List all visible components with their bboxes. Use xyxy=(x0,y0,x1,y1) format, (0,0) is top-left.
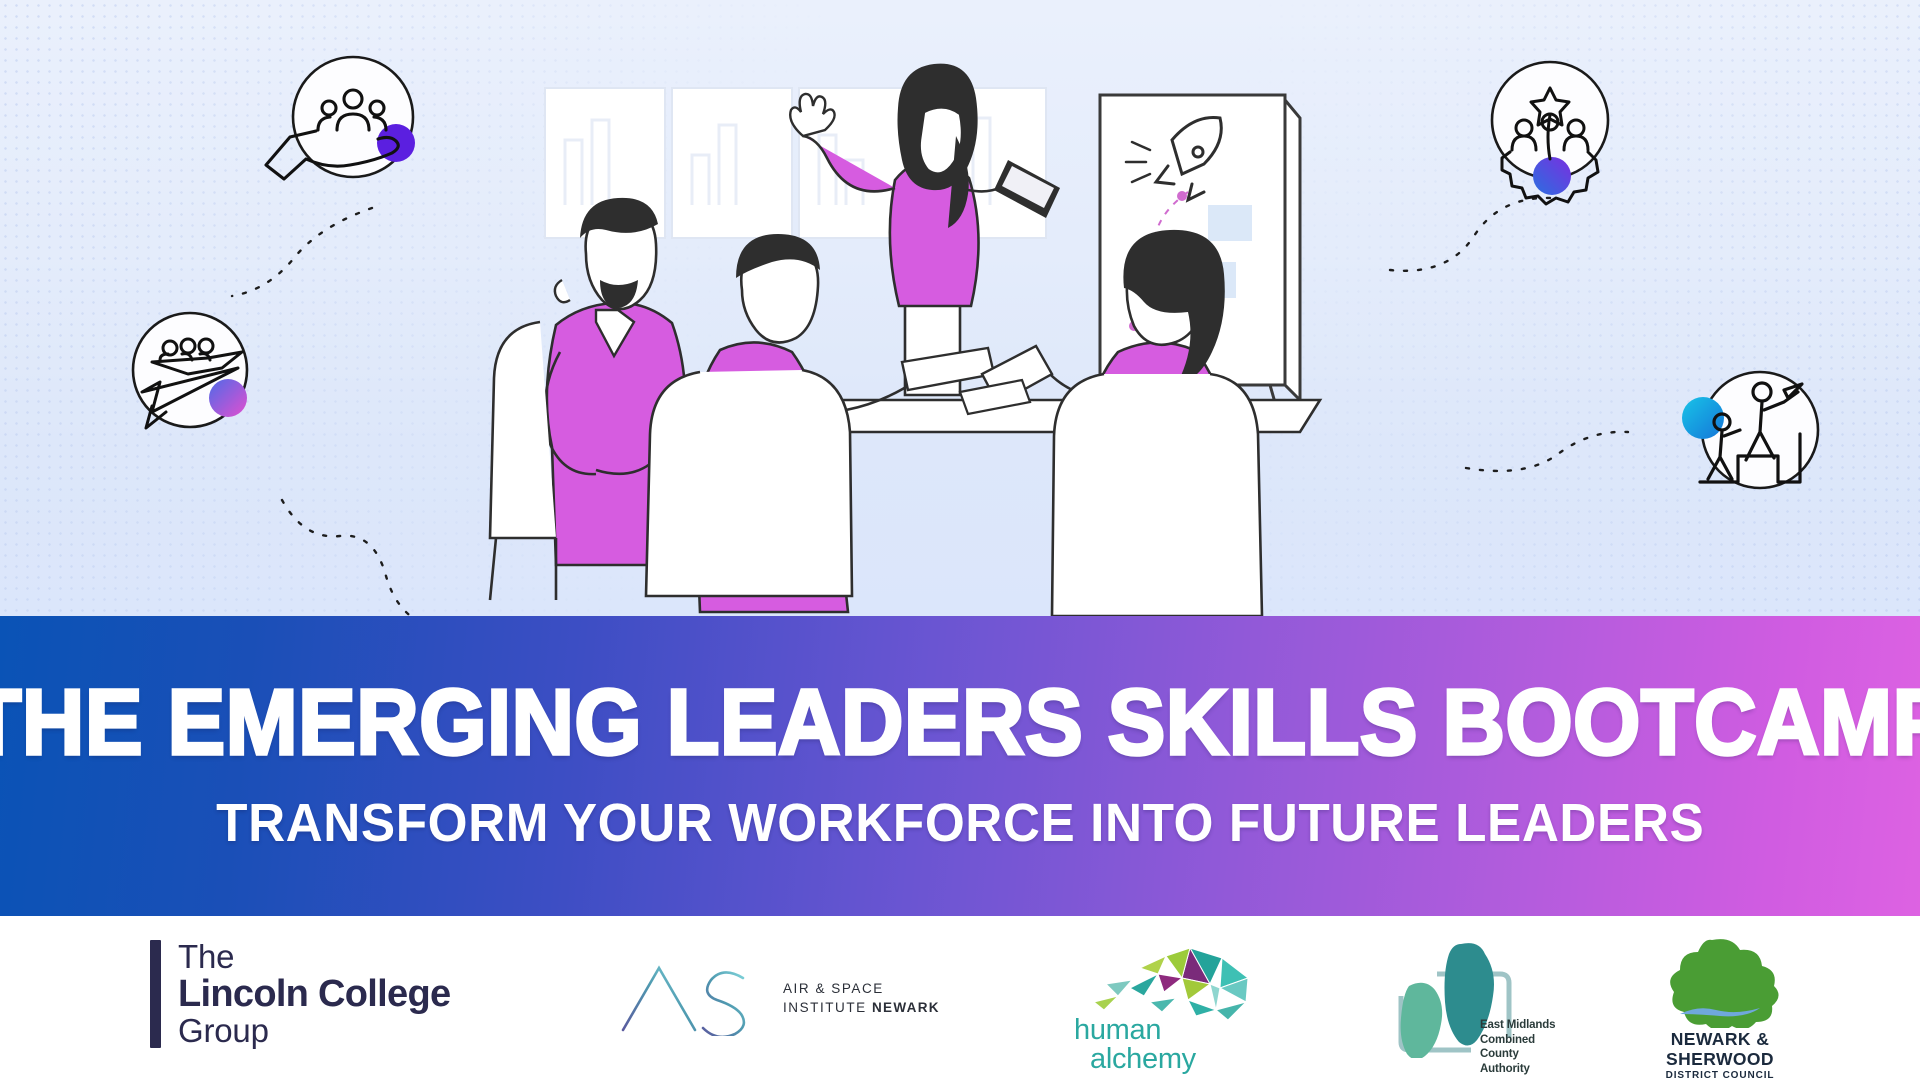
ha-line-1: human xyxy=(1074,1016,1196,1045)
emcca-wordmark: East Midlands Combined County Authority xyxy=(1480,1018,1570,1077)
page-subtitle: TRANSFORM YOUR WORKFORCE INTO FUTURE LEA… xyxy=(216,792,1704,854)
hero-illustration-area xyxy=(0,0,1920,616)
meeting-scene-illustration xyxy=(0,0,1920,616)
badge-gear-people-star xyxy=(1492,62,1608,204)
headline-band: THE EMERGING LEADERS SKILLS BOOTCAMP TRA… xyxy=(0,616,1920,916)
emcca-line-1: East Midlands xyxy=(1480,1018,1570,1033)
emcca-line-3: Authority xyxy=(1480,1062,1570,1077)
logo-air-space-institute: AIR & SPACE INSTITUTE NEWARK xyxy=(615,962,940,1036)
lincoln-line-2: Lincoln College xyxy=(178,975,450,1014)
badge-hand-holding-people xyxy=(266,57,415,179)
accent-dot-gradient xyxy=(209,379,247,417)
nsdc-line-3: DISTRICT COUNCIL xyxy=(1666,1070,1775,1080)
badge-stairs-climb-flag xyxy=(1682,372,1818,488)
lincoln-line-3: Group xyxy=(178,1014,450,1048)
asi-caption-line2: INSTITUTE NEWARK xyxy=(783,999,940,1018)
logo-human-alchemy: human alchemy xyxy=(1070,944,1270,1074)
accent-dot-gradient xyxy=(1533,157,1571,195)
page-title: THE EMERGING LEADERS SKILLS BOOTCAMP xyxy=(0,678,1920,767)
asi-caption-line1: AIR & SPACE xyxy=(783,980,940,999)
nsdc-tree-mark-icon xyxy=(1650,936,1790,1028)
human-alchemy-wordmark: human alchemy xyxy=(1074,1016,1196,1074)
lincoln-bar-mark xyxy=(150,940,161,1048)
ha-line-2: alchemy xyxy=(1090,1045,1196,1074)
badge-paper-plane-team xyxy=(133,313,247,428)
logo-east-midlands-cca: East Midlands Combined County Authority xyxy=(1385,938,1570,1058)
asi-caption: AIR & SPACE INSTITUTE NEWARK xyxy=(783,980,940,1017)
logo-lincoln-college-group: The Lincoln College Group xyxy=(150,940,450,1048)
asi-monogram-icon xyxy=(615,962,765,1036)
logo-newark-sherwood: NEWARK & SHERWOOD DISTRICT COUNCIL xyxy=(1650,936,1790,1080)
sticky-note xyxy=(1208,205,1252,241)
alchemy-head-mark-icon xyxy=(1070,944,1270,1022)
nsdc-line-2: SHERWOOD xyxy=(1666,1050,1774,1068)
emcca-line-2: Combined County xyxy=(1480,1033,1570,1062)
partner-logo-strip: The Lincoln College Group xyxy=(0,916,1920,1080)
nsdc-line-1: NEWARK & xyxy=(1671,1030,1769,1048)
accent-dot-gradient xyxy=(1682,397,1724,439)
promotional-banner: THE EMERGING LEADERS SKILLS BOOTCAMP TRA… xyxy=(0,0,1920,1080)
lincoln-line-1: The xyxy=(178,940,450,974)
